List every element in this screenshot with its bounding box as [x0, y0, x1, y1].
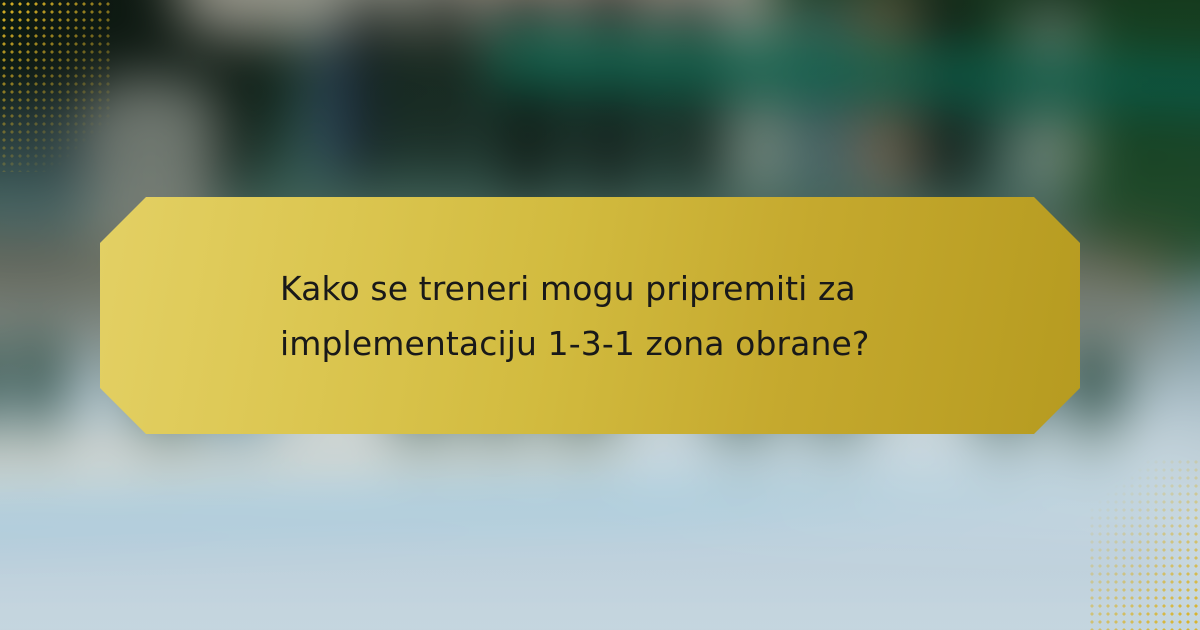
- headline-card: Kako se treneri mogu pripremiti za imple…: [100, 197, 1080, 434]
- page-title: Kako se treneri mogu pripremiti za imple…: [280, 261, 900, 371]
- social-card-canvas: Kako se treneri mogu pripremiti za imple…: [0, 0, 1200, 630]
